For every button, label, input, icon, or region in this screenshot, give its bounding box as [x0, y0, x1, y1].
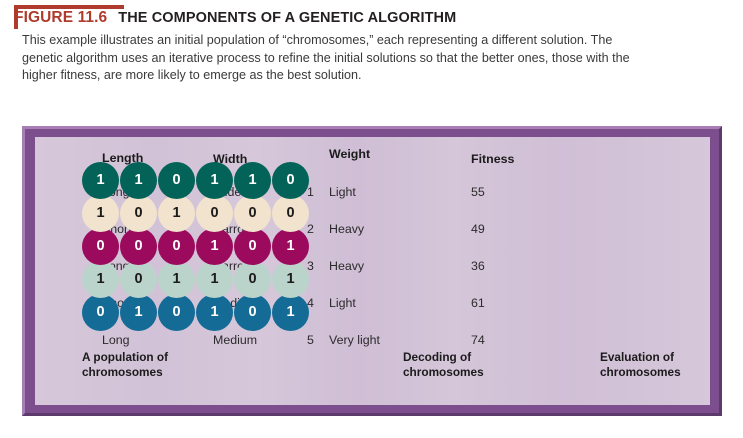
- table-header-fitness: Fitness: [471, 152, 514, 166]
- table-cell-width: Medium: [213, 333, 257, 347]
- caption-population: A population ofchromosomes: [82, 350, 168, 379]
- chromosome-bit: 1: [82, 261, 119, 298]
- chromosome-bit: 0: [234, 228, 271, 265]
- figure-container: FIGURE 11.6 THE COMPONENTS OF A GENETIC …: [0, 0, 743, 438]
- chromosome-bit: 0: [272, 162, 309, 199]
- table-row-number: 3: [307, 259, 314, 273]
- chromosome-bit: 1: [120, 162, 157, 199]
- chromosome-bit: 1: [158, 195, 195, 232]
- chromosome-bit: 1: [196, 228, 233, 265]
- chromosome-bit: 1: [234, 162, 271, 199]
- chromosome-bit: 0: [234, 195, 271, 232]
- table-cell-fitness: 74: [471, 333, 485, 347]
- chromosome-bit: 1: [120, 294, 157, 331]
- figure-title-row: FIGURE 11.6 THE COMPONENTS OF A GENETIC …: [14, 6, 456, 30]
- table-cell-weight: Heavy: [329, 222, 364, 236]
- chromosome-bit: 1: [196, 294, 233, 331]
- caption-decoding-line: chromosomes: [403, 365, 484, 380]
- caption-evaluation-line: chromosomes: [600, 365, 681, 380]
- chromosome-bit: 0: [158, 294, 195, 331]
- chromosome-bit: 1: [82, 162, 119, 199]
- chromosome-bit: 0: [234, 294, 271, 331]
- caption-population-line: chromosomes: [82, 365, 168, 380]
- chromosome-bit: 0: [120, 228, 157, 265]
- chromosome-bit: 1: [272, 261, 309, 298]
- figure-description: This example illustrates an initial popu…: [22, 32, 634, 85]
- chromosome-bit: 0: [82, 228, 119, 265]
- chromosome-bit: 1: [196, 261, 233, 298]
- caption-decoding-line: Decoding of: [403, 350, 484, 365]
- chromosome-bit: 1: [196, 162, 233, 199]
- table-cell-length: Long: [102, 333, 130, 347]
- table-row-number: 5: [307, 333, 314, 347]
- chromosome-bit: 0: [120, 195, 157, 232]
- table-cell-fitness: 61: [471, 296, 485, 310]
- chromosome-bit: 1: [272, 228, 309, 265]
- chromosome-bit: 0: [158, 162, 195, 199]
- figure-title: THE COMPONENTS OF A GENETIC ALGORITHM: [118, 10, 456, 26]
- chromosome-bit: 0: [234, 261, 271, 298]
- caption-decoding: Decoding ofchromosomes: [403, 350, 484, 379]
- table-header-weight: Weight: [329, 147, 370, 161]
- panel-inner: 110110101000000101101101010101 LengthWid…: [35, 137, 710, 405]
- chromosome-bit: 0: [158, 228, 195, 265]
- chromosome-bit: 0: [82, 294, 119, 331]
- figure-panel: 110110101000000101101101010101 LengthWid…: [22, 126, 722, 416]
- caption-population-line: A population of: [82, 350, 168, 365]
- table-cell-weight: Light: [329, 185, 356, 199]
- table-cell-weight: Light: [329, 296, 356, 310]
- figure-number-label: FIGURE 11.6: [14, 9, 107, 27]
- chromosome-bit: 0: [120, 261, 157, 298]
- table-cell-weight: Heavy: [329, 259, 364, 273]
- table-row-number: 2: [307, 222, 314, 236]
- chromosome-bit: 0: [196, 195, 233, 232]
- caption-evaluation-line: Evaluation of: [600, 350, 681, 365]
- chromosome-bit: 1: [158, 261, 195, 298]
- table-row-number: 1: [307, 185, 314, 199]
- table-cell-weight: Very light: [329, 333, 380, 347]
- chromosome-bit: 1: [82, 195, 119, 232]
- caption-evaluation: Evaluation ofchromosomes: [600, 350, 681, 379]
- table-cell-fitness: 36: [471, 259, 485, 273]
- table-cell-fitness: 49: [471, 222, 485, 236]
- chromosome-bit: 0: [272, 195, 309, 232]
- chromosome-bit: 1: [272, 294, 309, 331]
- table-cell-fitness: 55: [471, 185, 485, 199]
